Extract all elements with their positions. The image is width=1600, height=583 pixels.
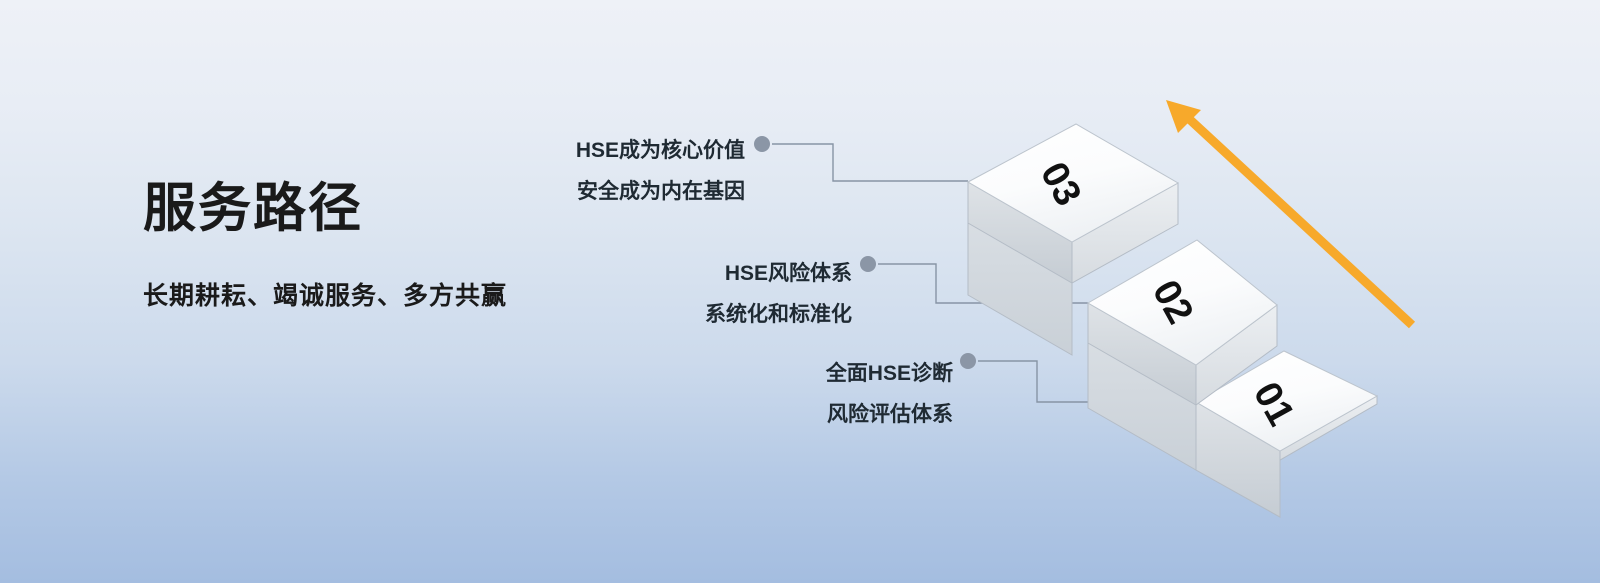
step-label-03-line1: HSE成为核心价值 xyxy=(400,131,745,172)
step-label-02: HSE风险体系 系统化和标准化 xyxy=(510,254,852,336)
step-label-02-line1: HSE风险体系 xyxy=(510,254,852,295)
connector-line-03 xyxy=(754,136,968,181)
connector-dot-02 xyxy=(860,256,876,272)
step-label-03-line2: 安全成为内在基因 xyxy=(400,172,745,213)
connector-dot-03 xyxy=(754,136,770,152)
step-label-03: HSE成为核心价值 安全成为内在基因 xyxy=(400,131,745,213)
step-label-01-line2: 风险评估体系 xyxy=(610,395,953,436)
connector-dot-01 xyxy=(960,353,976,369)
step-label-02-line2: 系统化和标准化 xyxy=(510,295,852,336)
slide-canvas: 服务路径 长期耕耘、竭诚服务、多方共赢 xyxy=(0,0,1600,583)
step-label-01-line1: 全面HSE诊断 xyxy=(610,354,953,395)
step-label-01: 全面HSE诊断 风险评估体系 xyxy=(610,354,953,436)
